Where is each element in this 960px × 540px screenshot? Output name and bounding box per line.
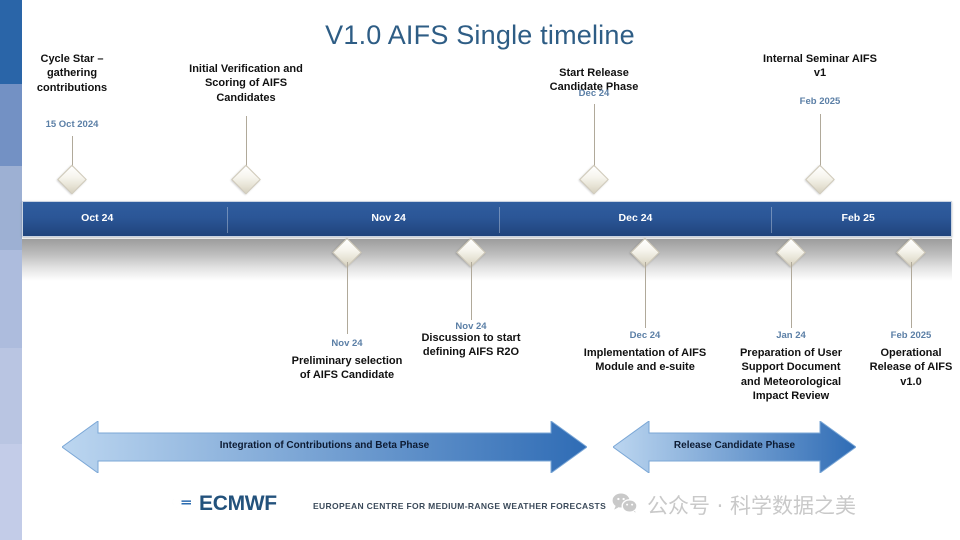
milestone-stem-preliminary-selection bbox=[347, 262, 348, 334]
sidebar-band-2 bbox=[0, 166, 22, 250]
axis-divider-2 bbox=[771, 207, 772, 233]
sidebar-band-4 bbox=[0, 348, 22, 444]
page-title: V1.0 AIFS Single timeline bbox=[0, 20, 960, 51]
milestone-marker-initial-verification[interactable] bbox=[231, 165, 261, 195]
milestone-stem-operational-release bbox=[911, 262, 912, 328]
milestone-label-discussion-aifs-r2o: Discussion to start defining AIFS R2O bbox=[416, 331, 526, 360]
wechat-icon bbox=[612, 492, 638, 519]
milestone-date-preliminary-selection: Nov 24 bbox=[331, 338, 362, 349]
milestone-date-start-release-candidate: Dec 24 bbox=[579, 88, 610, 99]
sidebar-band-1 bbox=[0, 84, 22, 166]
sidebar-band-5 bbox=[0, 444, 22, 540]
slide-canvas: V1.0 AIFS Single timeline Oct 24Nov 24De… bbox=[0, 0, 960, 540]
milestone-date-operational-release: Feb 2025 bbox=[891, 330, 932, 341]
axis-segment-label-1: Nov 24 bbox=[371, 212, 405, 224]
milestone-date-internal-seminar: Feb 2025 bbox=[800, 96, 841, 107]
axis-segment-label-3: Feb 25 bbox=[842, 212, 875, 224]
phase-arrow-release-candidate[interactable]: Release Candidate Phase bbox=[613, 421, 856, 473]
ecmwf-logo: ECMWF bbox=[168, 492, 277, 516]
milestone-label-initial-verification: Initial Verification and Scoring of AIFS… bbox=[186, 62, 306, 105]
milestone-date-user-support-document: Jan 24 bbox=[776, 330, 806, 341]
milestone-stem-internal-seminar bbox=[820, 114, 821, 172]
milestone-label-cycle-star: Cycle Star – gathering contributions bbox=[20, 52, 124, 95]
milestone-label-user-support-document: Preparation of User Support Document and… bbox=[731, 346, 851, 403]
milestone-stem-user-support-document bbox=[791, 262, 792, 328]
milestone-label-preliminary-selection: Preliminary selection of AIFS Candidate bbox=[291, 354, 403, 383]
milestone-label-implementation-module-esuite: Implementation of AIFS Module and e-suit… bbox=[570, 346, 720, 375]
timeline-under-band bbox=[22, 239, 952, 281]
milestone-marker-start-release-candidate[interactable] bbox=[579, 165, 609, 195]
ecmwf-mark-icon bbox=[168, 493, 194, 516]
milestone-stem-discussion-aifs-r2o bbox=[471, 262, 472, 320]
milestone-date-cycle-star: 15 Oct 2024 bbox=[46, 119, 99, 130]
milestone-stem-initial-verification bbox=[246, 116, 247, 172]
axis-segment-label-2: Dec 24 bbox=[619, 212, 653, 224]
timeline-axis-bar: Oct 24Nov 24Dec 24Feb 25 bbox=[22, 201, 952, 237]
sidebar-band-3 bbox=[0, 250, 22, 348]
milestone-stem-implementation-module-esuite bbox=[645, 262, 646, 328]
ecmwf-wordmark: ECMWF bbox=[199, 492, 277, 516]
wechat-watermark: 公众号 · 科学数据之美 bbox=[612, 490, 856, 520]
phase-arrow-integration-beta[interactable]: Integration of Contributions and Beta Ph… bbox=[62, 421, 587, 473]
milestone-stem-start-release-candidate bbox=[594, 104, 595, 172]
milestone-marker-cycle-star[interactable] bbox=[57, 165, 87, 195]
watermark-text: 公众号 · 科学数据之美 bbox=[647, 490, 856, 520]
axis-segment-label-0: Oct 24 bbox=[81, 212, 113, 224]
milestone-marker-internal-seminar[interactable] bbox=[805, 165, 835, 195]
axis-divider-0 bbox=[227, 207, 228, 233]
ecmwf-tagline: EUROPEAN CENTRE FOR MEDIUM-RANGE WEATHER… bbox=[313, 501, 606, 511]
milestone-date-implementation-module-esuite: Dec 24 bbox=[630, 330, 661, 341]
sidebar-decoration-strip bbox=[0, 0, 22, 540]
milestone-label-internal-seminar: Internal Seminar AIFS v1 bbox=[759, 52, 881, 81]
milestone-label-operational-release: Operational Release of AIFS v1.0 bbox=[859, 346, 960, 389]
axis-divider-1 bbox=[499, 207, 500, 233]
